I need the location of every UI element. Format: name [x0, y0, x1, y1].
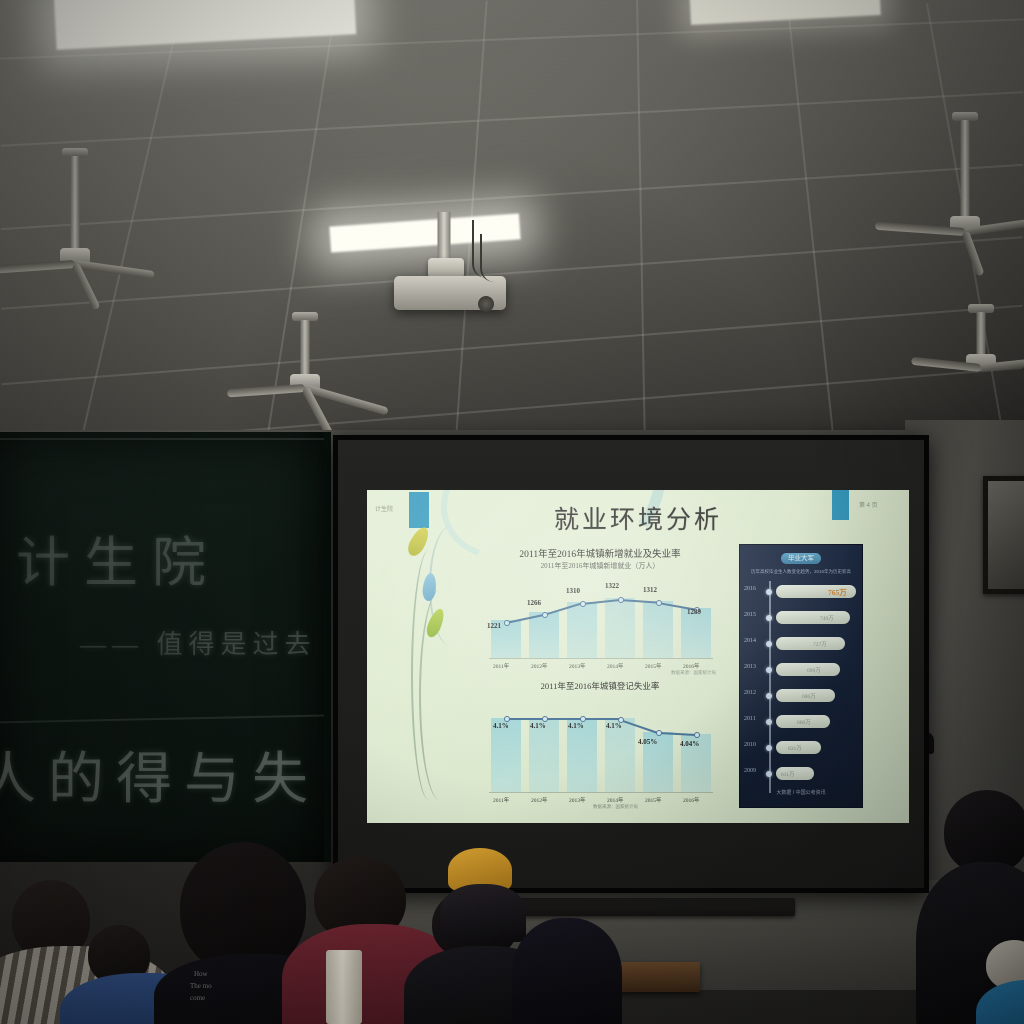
ceiling-fan-right-upper	[930, 112, 1000, 252]
classroom-blackboard: 计生院 —— 值得是过去 人的得与失	[0, 432, 331, 862]
data-label-bottom-1: 4.1%	[530, 722, 546, 730]
chart-urban-new-employment: 2011年至2016年城镇新增就业及失业率 2011年至2016年城镇新增就业（…	[475, 546, 725, 676]
chart-top-title: 2011年至2016年城镇新增就业及失业率	[475, 546, 725, 560]
data-label-bottom-5: 4.04%	[680, 740, 699, 748]
student-left-edge	[512, 918, 608, 1024]
timeline-value-1: 749万	[820, 614, 834, 622]
timeline-year-2: 2014	[744, 638, 756, 644]
suspended-ceiling	[0, 0, 1024, 450]
graduate-timeline-panel: 毕业大军 历年高校毕业生人数变化趋势，2016年为历史新高 2016 765万 …	[739, 544, 863, 808]
timeline-value-3: 699万	[807, 666, 821, 674]
x-label-bottom-3: 2014年	[607, 796, 624, 804]
data-label-bottom-3: 4.1%	[606, 722, 622, 730]
timeline-axis	[769, 581, 771, 793]
timeline-year-4: 2012	[744, 690, 756, 696]
ceiling-fan-left	[40, 148, 110, 268]
chalk-line-3: 人的得与失	[0, 734, 320, 815]
timeline-year-6: 2010	[744, 742, 756, 748]
x-label-bottom-2: 2013年	[569, 796, 586, 804]
x-label-top-5: 2016年	[683, 662, 700, 670]
projection-screen: 计生院 第 4 页 就业环境分析 2011年至2016年城镇新增就业及失业率 2…	[333, 435, 929, 893]
chart-bottom-title: 2011年至2016年城镇登记失业率	[475, 680, 725, 692]
data-label-top-5: 1289	[687, 608, 701, 616]
data-label-top-2: 1310	[566, 587, 580, 595]
x-label-bottom-0: 2011年	[493, 796, 509, 804]
data-label-bottom-4: 4.05%	[638, 738, 657, 746]
shirt-print-line-1: How	[194, 970, 208, 979]
shirt-print-line-2: The mo	[190, 982, 212, 991]
x-label-bottom-5: 2016年	[683, 796, 700, 804]
chart-top-subtitle: 2011年至2016年城镇新增就业（万人）	[475, 561, 725, 571]
student-right-blue	[986, 940, 1024, 1024]
data-label-top-3: 1322	[605, 582, 619, 590]
timeline-value-2: 727万	[813, 640, 827, 648]
timeline-value-5: 660万	[797, 718, 811, 726]
chart-urban-unemployment-rate: 2011年至2016年城镇登记失业率 4.1% 4.1	[475, 680, 725, 810]
x-label-top-2: 2013年	[569, 662, 586, 670]
ceiling-fan-right-lower	[946, 304, 1016, 414]
timeline-value-4: 680万	[802, 692, 816, 700]
timeline-year-5: 2011	[744, 716, 756, 722]
ceiling-fan-center	[270, 312, 340, 422]
presentation-slide: 计生院 第 4 页 就业环境分析 2011年至2016年城镇新增就业及失业率 2…	[367, 490, 909, 823]
chalk-line-1: 计生院	[16, 518, 220, 597]
timeline-value-6: 631万	[788, 744, 802, 752]
x-label-bottom-4: 2015年	[645, 796, 662, 804]
data-label-top-0: 1221	[487, 622, 501, 630]
classroom-photo: 计生院 —— 值得是过去 人的得与失 计生院 第 4 页 就业环境分析	[0, 0, 1024, 1024]
x-label-bottom-1: 2012年	[531, 796, 548, 804]
timeline-subtitle: 历年高校毕业生人数变化趋势，2016年为历史新高	[740, 569, 862, 575]
timeline-year-0: 2016	[744, 586, 756, 592]
slide-title: 就业环境分析	[367, 500, 909, 536]
timeline-year-1: 2015	[744, 612, 756, 618]
shirt-print-line-3: come	[190, 994, 205, 1003]
data-label-bottom-2: 4.1%	[568, 722, 584, 730]
data-label-top-4: 1312	[643, 586, 657, 594]
timeline-year-3: 2013	[744, 664, 756, 670]
x-label-top-0: 2011年	[493, 662, 509, 670]
data-label-top-1: 1266	[527, 599, 541, 607]
timeline-value-0: 765万	[828, 587, 847, 598]
chalk-line-2: —— 值得是过去	[80, 624, 317, 661]
ceiling-mounted-projector	[420, 212, 530, 322]
ceiling-light-panel-1	[54, 0, 357, 50]
x-label-top-1: 2012年	[531, 662, 548, 670]
x-label-top-3: 2014年	[607, 662, 624, 670]
data-label-bottom-0: 4.1%	[493, 722, 509, 730]
timeline-year-7: 2009	[744, 768, 756, 774]
ceiling-light-panel-3	[689, 0, 881, 25]
timeline-footer: 大数据 / 中国公考资讯	[740, 789, 862, 796]
x-label-top-4: 2015年	[645, 662, 662, 670]
chalk-tray	[520, 898, 795, 916]
chart-bottom-source: 数据来源：国家统计局	[593, 804, 638, 810]
timeline-header-pill: 毕业大军	[781, 553, 821, 564]
timeline-value-7: 611万	[781, 770, 795, 778]
chart-top-source: 数据来源：国家统计局	[671, 670, 716, 676]
framed-picture	[983, 476, 1024, 594]
paper-cup	[326, 950, 362, 1024]
